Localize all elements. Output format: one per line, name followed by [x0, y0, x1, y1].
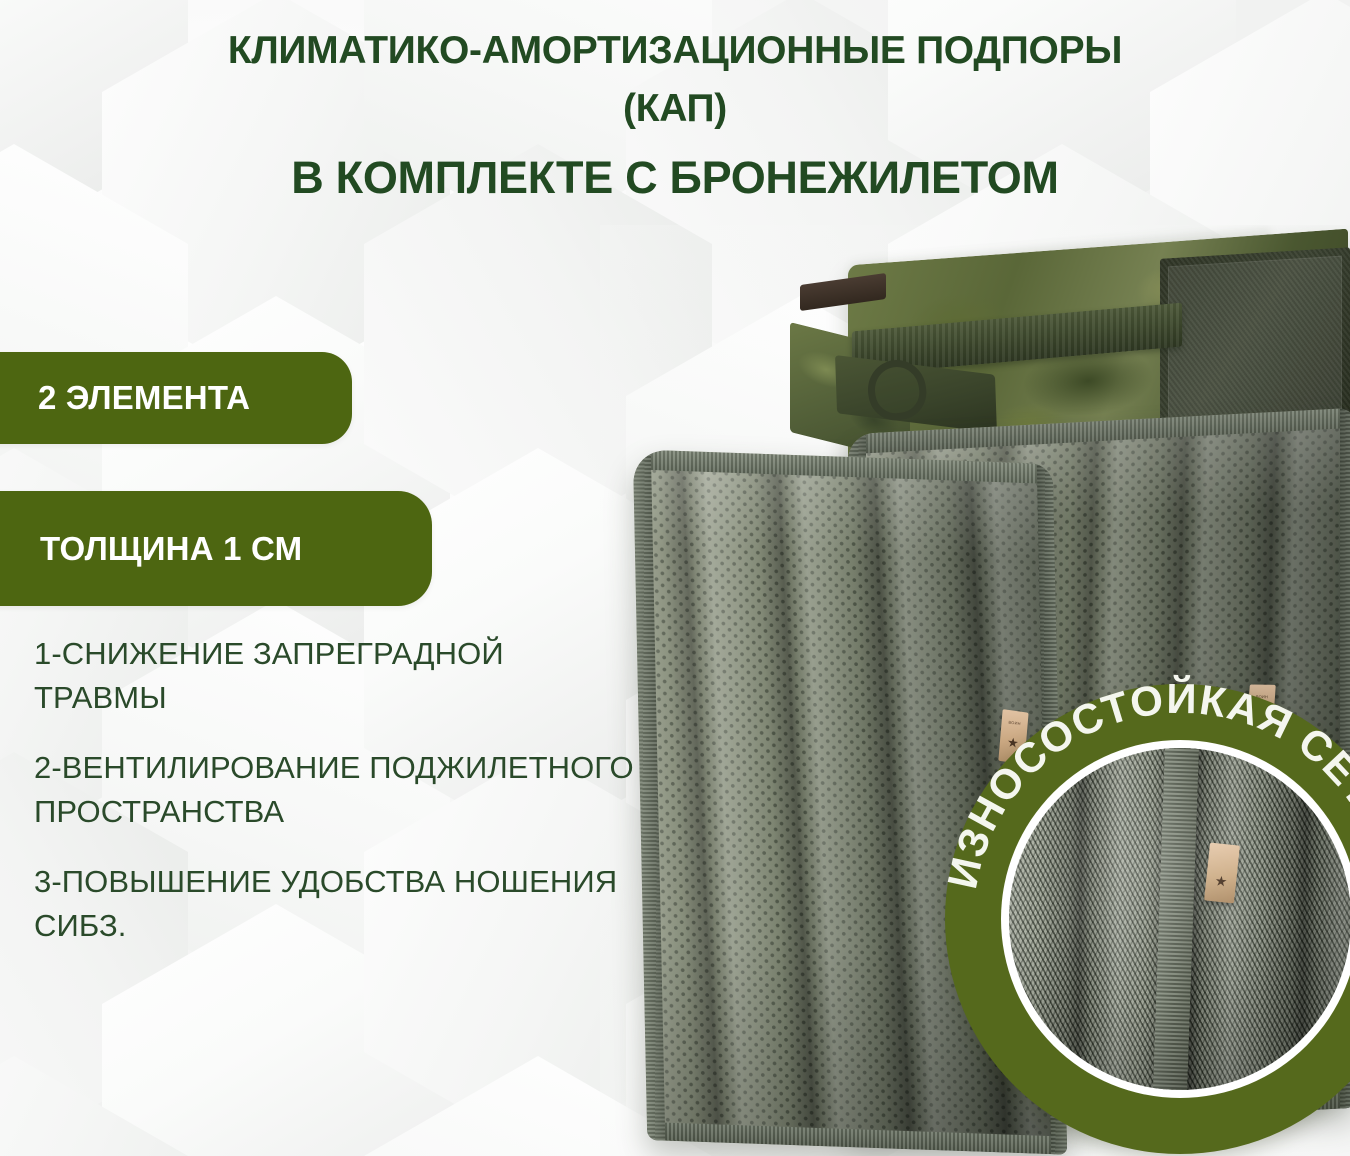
benefit-item-2: 2-ВЕНТИЛИРОВАНИЕ ПОДЖИЛЕТНОГО ПРОСТРАНСТ…	[34, 746, 634, 834]
title-line-2: (КАП)	[0, 80, 1350, 138]
badge-thickness: ТОЛЩИНА 1 СМ	[0, 491, 432, 606]
benefit-item-1: 1-СНИЖЕНИЕ ЗАПРЕГРАДНОЙ ТРАВМЫ	[34, 632, 634, 720]
title-line-3: В КОМПЛЕКТЕ С БРОНЕЖИЛЕТОМ	[0, 146, 1350, 210]
page-title: КЛИМАТИКО-АМОРТИЗАЦИОННЫЕ ПОДПОРЫ (КАП) …	[0, 22, 1350, 210]
benefit-list: 1-СНИЖЕНИЕ ЗАПРЕГРАДНОЙ ТРАВМЫ 2-ВЕНТИЛИ…	[34, 632, 634, 974]
badge-label: 2 ЭЛЕМЕНТА	[0, 379, 250, 417]
zoom-callout-badge: ★ ИЗНОСОСТОЙКАЯ СЕТКА	[945, 684, 1350, 1154]
callout-curved-text: ИЗНОСОСТОЙКАЯ СЕТКА	[945, 684, 1350, 1154]
callout-label: ИЗНОСОСТОЙКАЯ СЕТКА	[938, 674, 1350, 893]
benefit-item-3: 3-ПОВЫШЕНИЕ УДОБСТВА НОШЕНИЯ СИБЗ.	[34, 860, 634, 948]
title-line-1: КЛИМАТИКО-АМОРТИЗАЦИОННЫЕ ПОДПОРЫ	[0, 22, 1350, 80]
badge-label: ТОЛЩИНА 1 СМ	[0, 530, 302, 568]
infographic-canvas: ВОИН ★ ВОИН ★ КЛИМАТИКО-АМОРТИЗАЦИОННЫЕ …	[0, 0, 1350, 1156]
badge-elements-count: 2 ЭЛЕМЕНТА	[0, 352, 352, 444]
